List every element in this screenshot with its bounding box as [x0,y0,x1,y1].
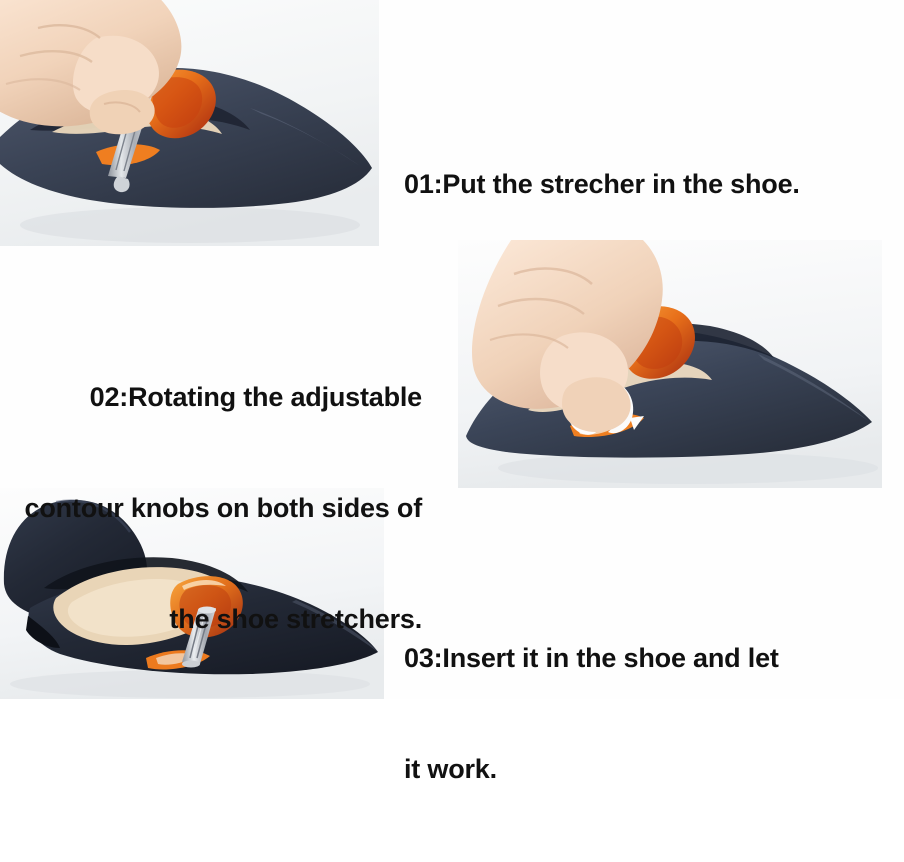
step-02-illustration [458,240,882,488]
caption-line: contour knobs on both sides of [0,490,422,527]
caption-line: the shoe stretchers. [0,601,422,638]
step-01-caption: 01:Put the strecher in the shoe. [404,92,800,277]
hand [0,0,181,134]
step-01-photo [0,0,379,246]
caption-line: it work. [404,751,779,788]
step-01-illustration [0,0,379,246]
caption-line: 01:Put the strecher in the shoe. [404,166,800,203]
step-02-caption: 02:Rotating the adjustable contour knobs… [0,305,430,712]
step-02-photo [458,240,882,488]
caption-line: 02:Rotating the adjustable [0,379,422,416]
caption-line: 03:Insert it in the shoe and let [404,640,779,677]
instruction-collage: 01:Put the strecher in the shoe. 02:Rota… [0,0,904,699]
step-03-caption: 03:Insert it in the shoe and let it work… [404,566,779,862]
